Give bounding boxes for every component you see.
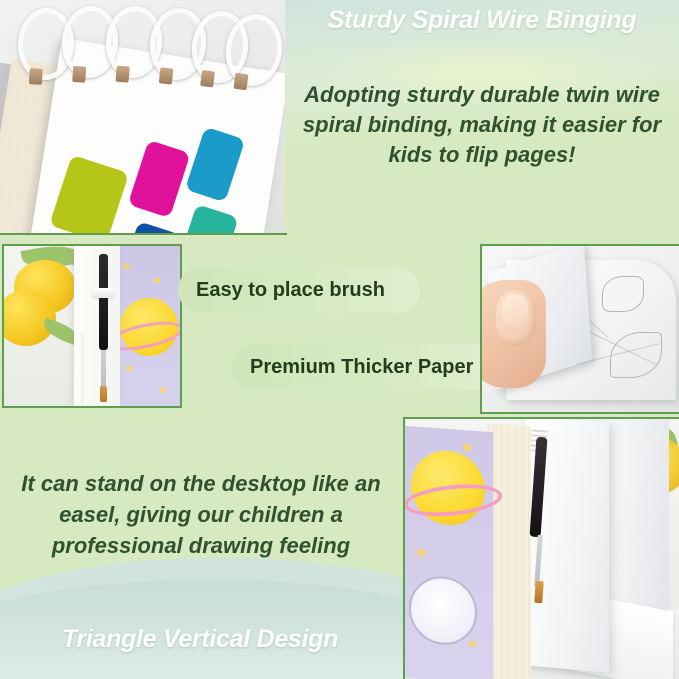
photo-thick-paper: hand flipping a thick sheet of drawing p… <box>480 244 679 414</box>
cover-swatch <box>49 155 129 235</box>
cover-swatch <box>178 204 239 235</box>
star-decor: ★ <box>152 276 162 287</box>
cover-swatch <box>128 140 191 218</box>
photo-spiral-binding: spiral-wire-bound sketchbook with colore… <box>0 0 287 235</box>
top-body-text: Adopting sturdy durable twin wire spiral… <box>299 80 665 170</box>
cover-swatch <box>185 127 245 203</box>
top-heading: Sturdy Spiral Wire Binging <box>285 6 679 35</box>
brush-holder-loop <box>92 288 114 298</box>
bottom-body-text: It can stand on the desktop like an ease… <box>16 468 386 561</box>
notebook-page-stack <box>487 423 531 679</box>
star-decor: ★ <box>415 547 428 559</box>
pill-text: Premium Thicker Paper <box>250 356 473 379</box>
cover-swatch <box>122 221 181 235</box>
label-easy-to-place-brush: Easy to place brush <box>178 267 420 313</box>
photo-brush-slot: ★ ★ ★ ★ sketchbook spine holding a paint… <box>2 244 182 408</box>
star-decor: ★ <box>467 638 478 650</box>
star-decor: ★ <box>124 364 134 375</box>
photo-triangle-easel: ★ ★ ★ sketchbook standing like a triangu… <box>403 417 679 679</box>
pill-text: Easy to place brush <box>196 279 385 302</box>
label-premium-thicker-paper: Premium Thicker Paper <box>232 344 500 390</box>
spine-edge <box>78 332 84 406</box>
star-decor: ★ <box>158 386 168 397</box>
leaf-outline <box>602 276 644 312</box>
paintbrush-bristles <box>100 386 107 402</box>
bottom-heading: Triangle Vertical Design <box>0 625 400 654</box>
infographic-page: spiral-wire-bound sketchbook with colore… <box>0 0 679 679</box>
paintbrush-shaft <box>101 350 106 390</box>
star-decor: ★ <box>461 442 474 454</box>
paintbrush-bristles <box>534 581 544 604</box>
top-text-block: Sturdy Spiral Wire Binging Adopting stur… <box>285 0 679 233</box>
notebook-cover-art: ★ ★ ★ <box>405 426 493 679</box>
notebook-cover-art: ★ ★ ★ ★ <box>114 246 180 406</box>
thumbnail <box>502 294 528 326</box>
star-decor: ★ <box>122 262 132 273</box>
paintbrush-handle <box>99 254 108 350</box>
